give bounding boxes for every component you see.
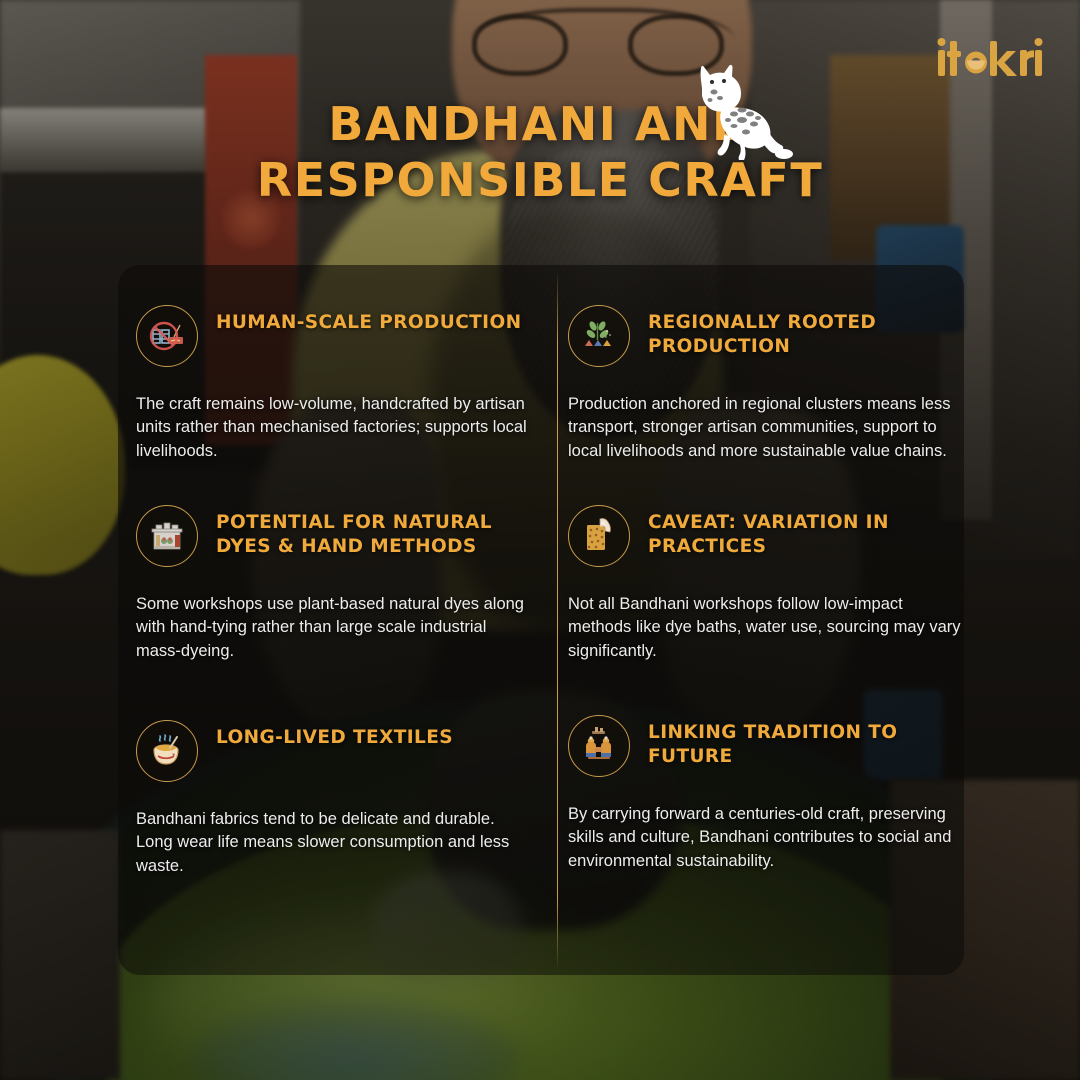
no-factory-icon	[136, 305, 198, 367]
title-line-1: BANDHANI AND	[0, 96, 1080, 152]
card-title: HUMAN-SCALE PRODUCTION	[216, 311, 521, 335]
card-body: The craft remains low-volume, handcrafte…	[136, 393, 528, 463]
card-linking-tradition-to-future[interactable]: LINKING TRADITION TO FUTURE By carrying …	[568, 715, 968, 873]
card-regionally-rooted-production[interactable]: REGIONALLY ROOTED PRODUCTION Production …	[568, 305, 968, 463]
brand-logo[interactable]	[936, 38, 1044, 82]
card-caveat-variation-in-practices[interactable]: CAVEAT: VARIATION IN PRACTICES Not all B…	[568, 505, 968, 663]
card-title: CAVEAT: VARIATION IN PRACTICES	[648, 511, 968, 558]
hand-holding-fabric-icon	[568, 505, 630, 567]
card-natural-dyes-hand-methods[interactable]: POTENTIAL FOR NATURAL DYES & HAND METHOD…	[136, 505, 536, 663]
card-body: By carrying forward a centuries-old craf…	[568, 803, 968, 873]
card-body: Some workshops use plant-based natural d…	[136, 593, 528, 663]
column-divider	[557, 273, 558, 967]
card-human-scale-production[interactable]: HUMAN-SCALE PRODUCTION The craft remains…	[136, 305, 536, 463]
card-body: Bandhani fabrics tend to be delicate and…	[136, 808, 528, 878]
infographic-poster: BANDHANI AND RESPONSIBLE CRAFT	[0, 0, 1080, 1080]
steaming-dye-pot-icon	[136, 720, 198, 782]
cat-illustration-icon	[684, 52, 804, 160]
card-title: LINKING TRADITION TO FUTURE	[648, 721, 968, 768]
card-body: Production anchored in regional clusters…	[568, 393, 968, 463]
workshop-building-icon	[136, 505, 198, 567]
content-panel: HUMAN-SCALE PRODUCTION The craft remains…	[118, 265, 964, 975]
card-body: Not all Bandhani workshops follow low-im…	[568, 593, 968, 663]
two-artisans-icon	[568, 715, 630, 777]
itokri-logo-icon	[936, 38, 1044, 82]
card-title: POTENTIAL FOR NATURAL DYES & HAND METHOD…	[216, 511, 534, 558]
poster-title: BANDHANI AND RESPONSIBLE CRAFT	[0, 96, 1080, 208]
card-title: REGIONALLY ROOTED PRODUCTION	[648, 311, 968, 358]
leaves-and-dye-powder-icon	[568, 305, 630, 367]
card-title: LONG-LIVED TEXTILES	[216, 726, 453, 750]
card-long-lived-textiles[interactable]: LONG-LIVED TEXTILES Bandhani fabrics ten…	[136, 720, 536, 878]
title-line-2: RESPONSIBLE CRAFT	[0, 152, 1080, 208]
